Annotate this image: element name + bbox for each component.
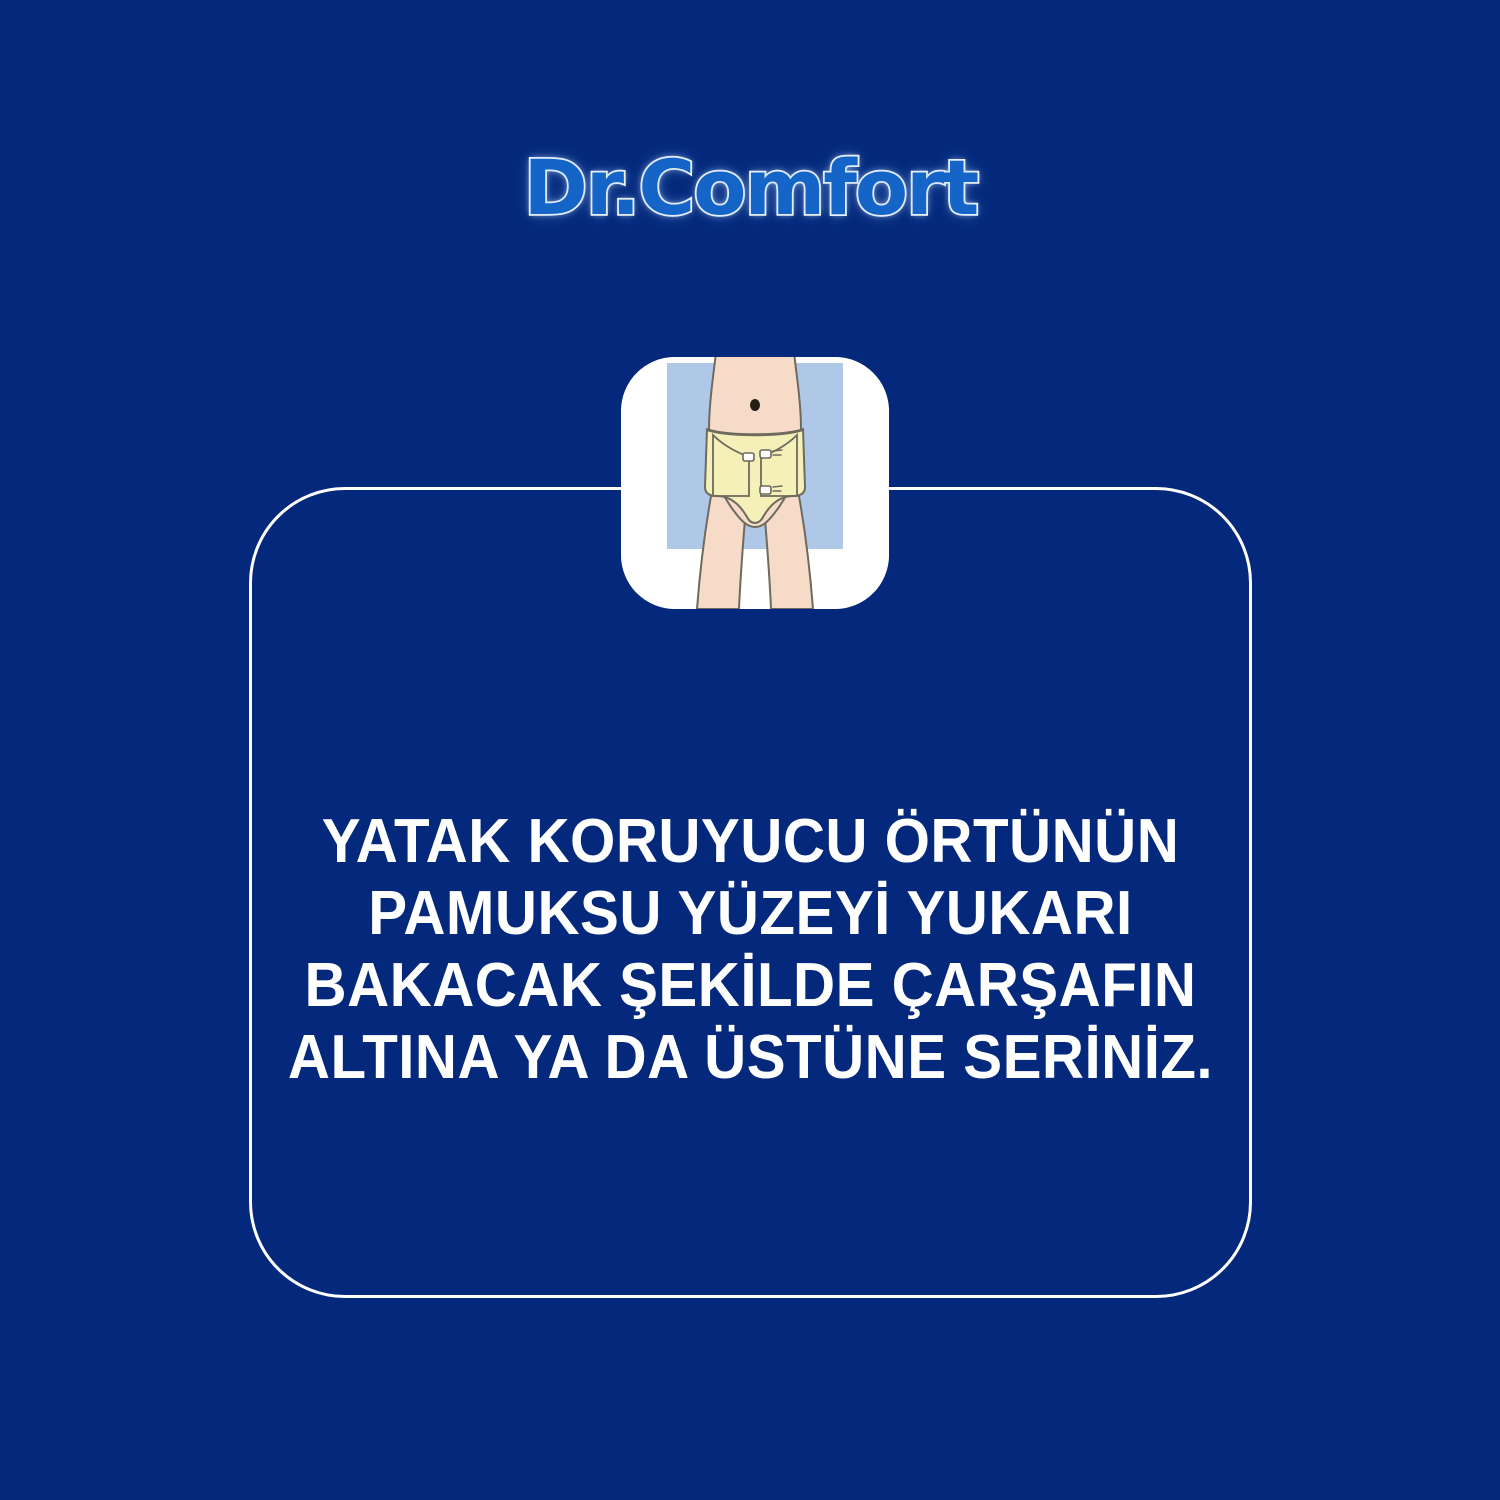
brand-logo: Dr.Comfort <box>0 138 1500 238</box>
poster-canvas: Dr.Comfort <box>0 0 1500 1500</box>
fastener-tab-right-upper <box>760 450 771 458</box>
instruction-line-1: YATAK KORUYUCU ÖRTÜNÜN <box>279 806 1222 878</box>
navel-dot <box>750 399 760 411</box>
instruction-line-3: BAKACAK ŞEKİLDE ÇARŞAFIN <box>279 950 1222 1022</box>
instruction-line-2: PAMUKSU YÜZEYİ YUKARI <box>279 878 1222 950</box>
illustration-card <box>621 357 889 609</box>
adult-brief-wearing-illustration <box>621 357 889 609</box>
fastener-tab-right-lower <box>760 486 771 494</box>
instruction-line-4: ALTINA YA DA ÜSTÜNE SERİNİZ. <box>279 1022 1222 1094</box>
brand-logo-text: Dr.Comfort <box>523 150 977 226</box>
fastener-tab-left-upper <box>743 453 754 461</box>
instruction-text: YATAK KORUYUCU ÖRTÜNÜN PAMUKSU YÜZEYİ YU… <box>249 806 1252 1094</box>
